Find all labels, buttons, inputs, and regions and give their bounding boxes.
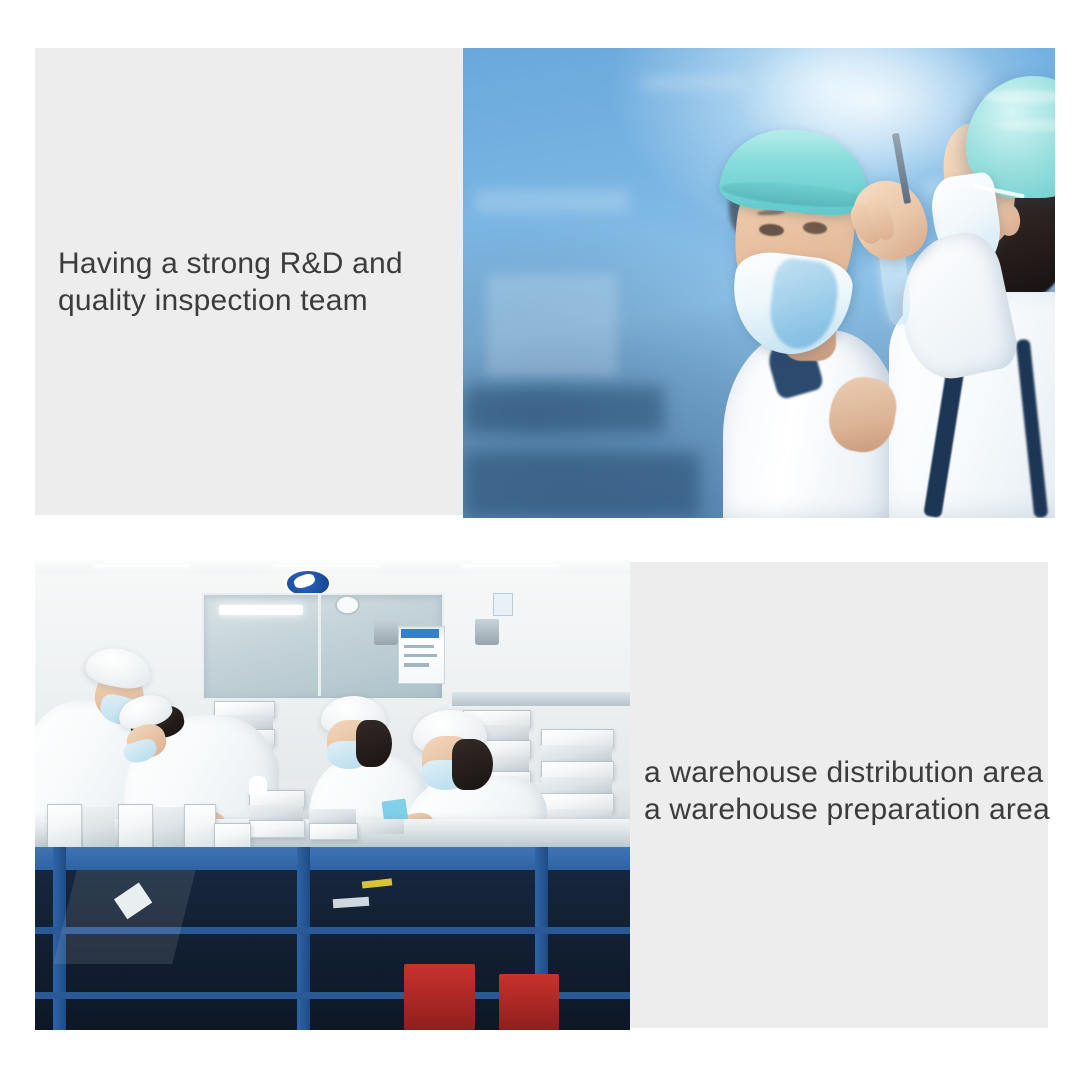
rnd-caption: Having a strong R&D and quality inspecti… — [58, 245, 403, 319]
warehouse-caption-line-1: a warehouse distribution area — [644, 754, 1050, 791]
page-canvas: Having a strong R&D and quality inspecti… — [0, 0, 1080, 1080]
rnd-caption-line-1: Having a strong R&D and — [58, 245, 403, 282]
rnd-caption-line-2: quality inspection team — [58, 282, 403, 319]
warehouse-caption-line-2: a warehouse preparation area — [644, 791, 1050, 828]
lab-inspection-photo — [463, 48, 1055, 518]
warehouse-packing-photo — [35, 560, 630, 1030]
warehouse-caption: a warehouse distribution area a warehous… — [644, 754, 1050, 828]
